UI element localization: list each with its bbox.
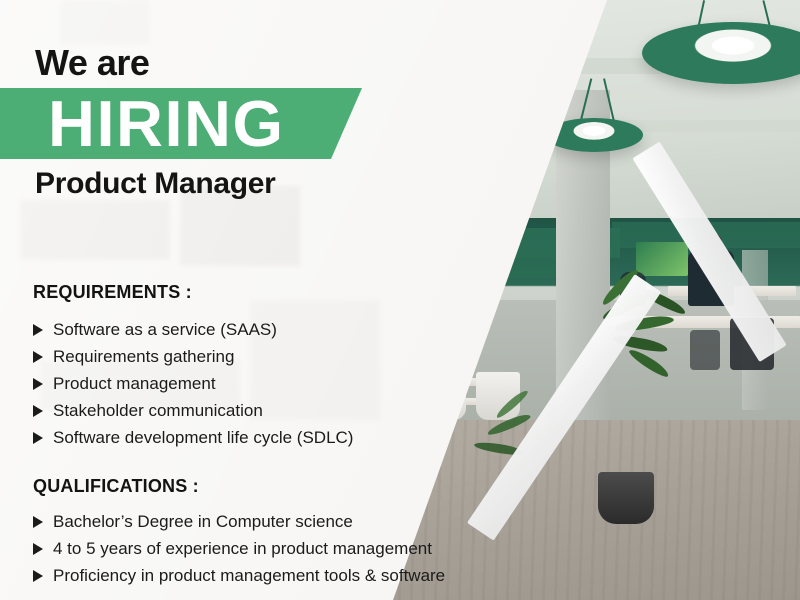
list-item: Stakeholder communication [33,397,353,424]
qualifications-heading: QUALIFICATIONS : [33,476,199,497]
list-item: 4 to 5 years of experience in product ma… [33,535,445,562]
triangle-right-icon [33,516,43,528]
list-item-label: 4 to 5 years of experience in product ma… [53,539,432,559]
eyebrow-text: We are [35,45,149,81]
list-item: Software development life cycle (SDLC) [33,424,353,451]
list-item-label: Software as a service (SAAS) [53,320,277,340]
list-item-label: Requirements gathering [53,347,234,367]
triangle-right-icon [33,570,43,582]
list-item-label: Software development life cycle (SDLC) [53,428,353,448]
job-ad-poster: We are HIRING Product Manager REQUIREMEN… [0,0,800,600]
triangle-right-icon [33,351,43,363]
list-item: Bachelor’s Degree in Computer science [33,508,445,535]
triangle-right-icon [33,543,43,555]
list-item-label: Product management [53,374,216,394]
list-item-label: Proficiency in product management tools … [53,566,445,586]
list-item-label: Stakeholder communication [53,401,263,421]
list-item: Software as a service (SAAS) [33,316,353,343]
job-title: Product Manager [35,167,276,200]
list-item-label: Bachelor’s Degree in Computer science [53,512,353,532]
list-item: Proficiency in product management tools … [33,562,445,589]
requirements-list: Software as a service (SAAS) Requirement… [33,316,353,451]
triangle-right-icon [33,432,43,444]
triangle-right-icon [33,324,43,336]
list-item: Requirements gathering [33,343,353,370]
list-item: Product management [33,370,353,397]
triangle-right-icon [33,405,43,417]
headline-hiring: HIRING [48,90,285,158]
requirements-heading: REQUIREMENTS : [33,282,192,303]
triangle-right-icon [33,378,43,390]
qualifications-list: Bachelor’s Degree in Computer science 4 … [33,508,445,589]
